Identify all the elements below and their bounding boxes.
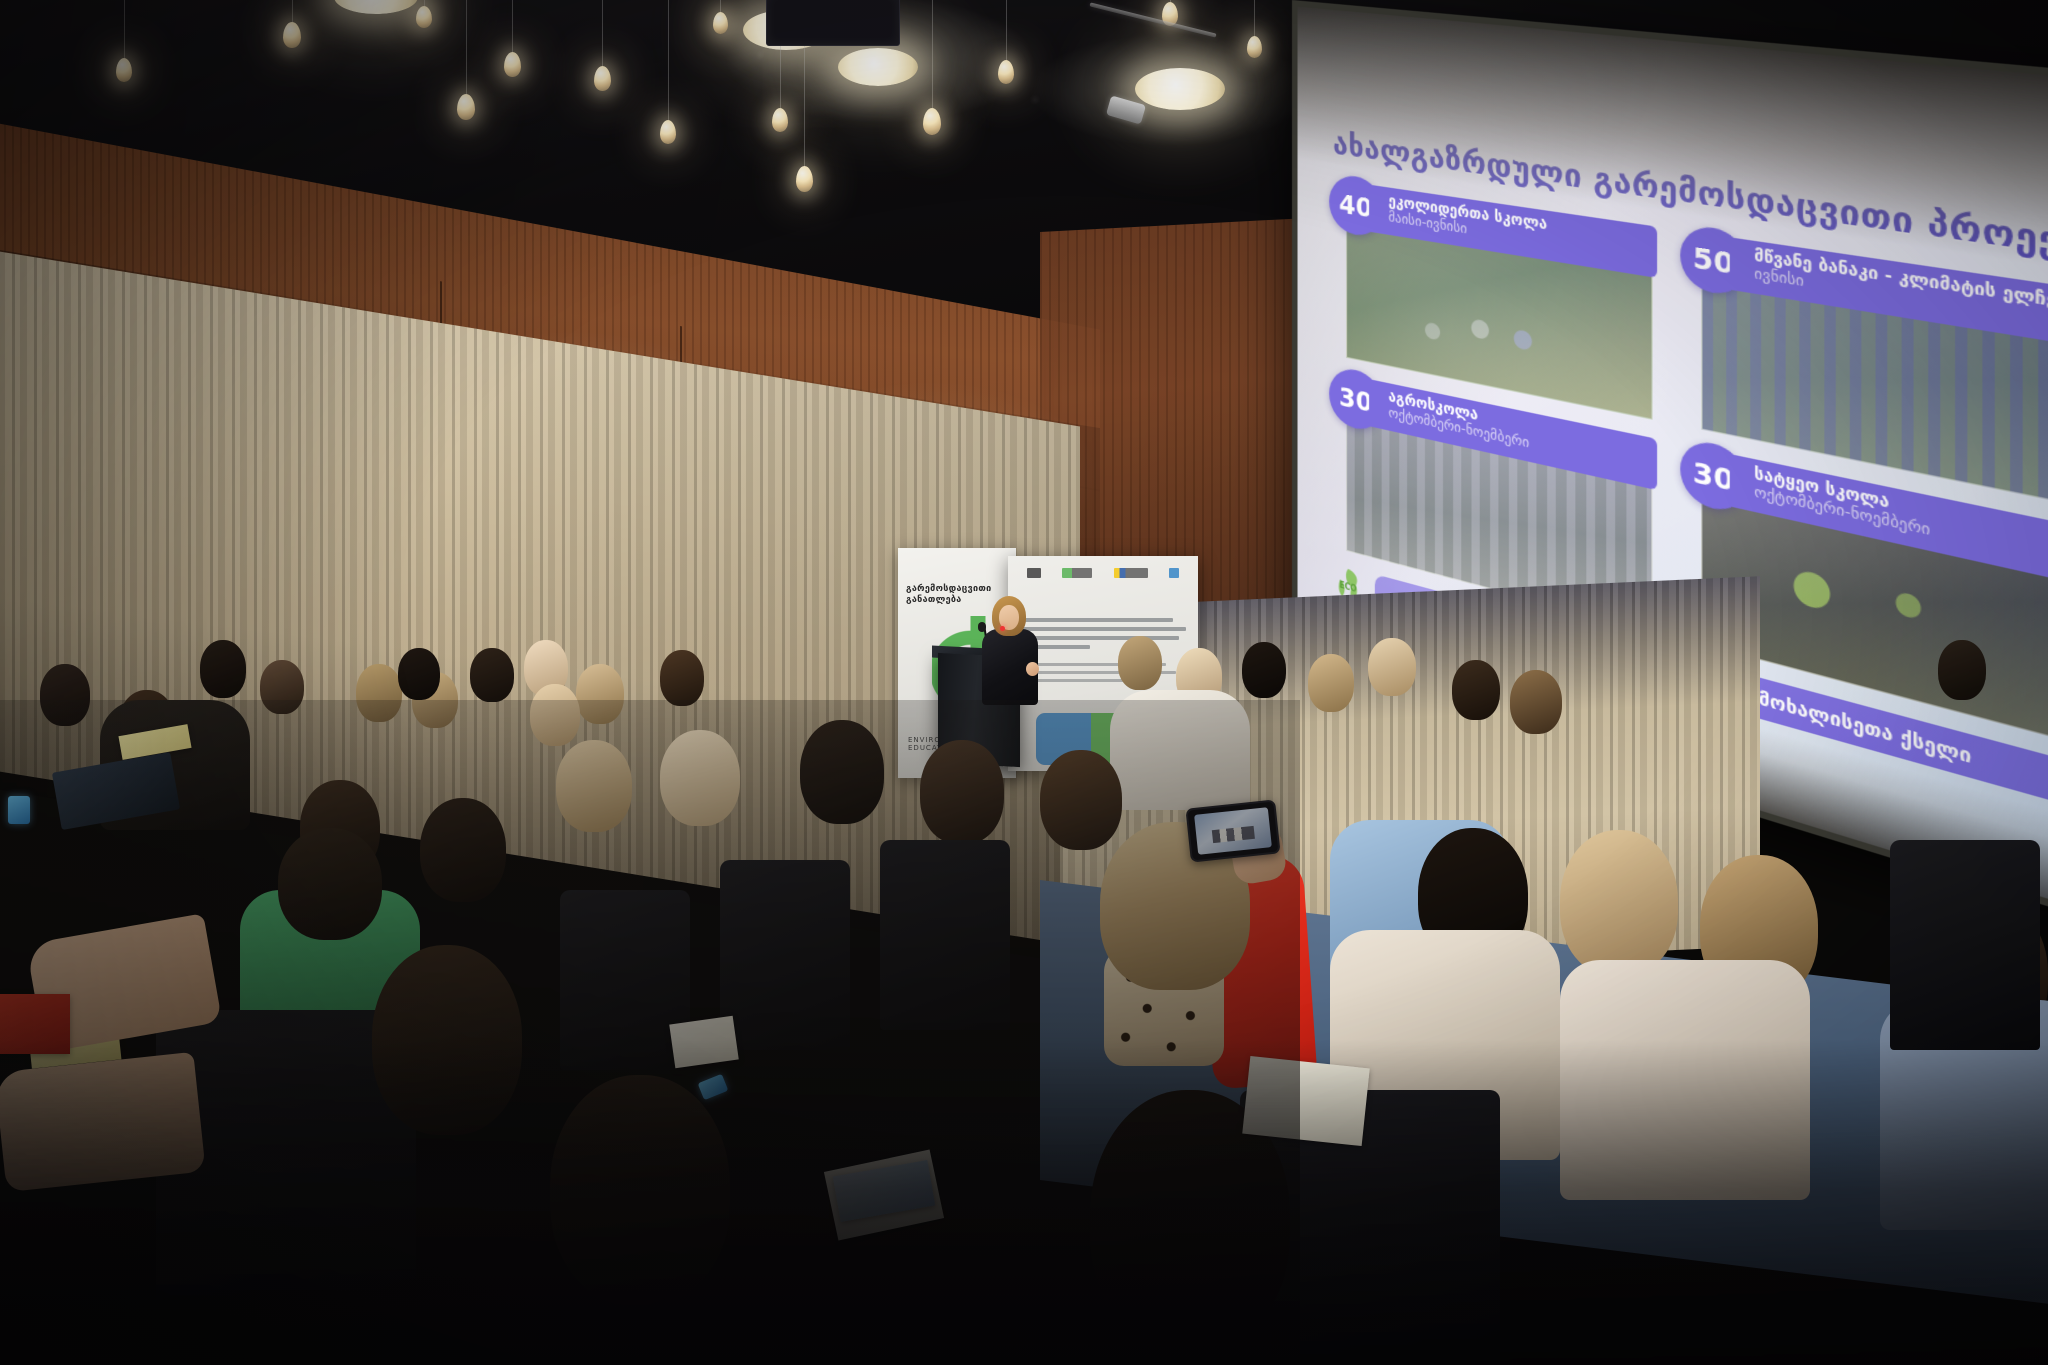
sponsor-logo <box>1027 568 1041 578</box>
audience-head <box>1242 642 1286 698</box>
conference-hall-photo: ახალგაზრდული გარემოსდაცვითი პროექტები 40… <box>0 0 2048 1365</box>
audience-head <box>470 648 514 702</box>
chair-back <box>1890 840 2040 1050</box>
audience-head <box>200 640 246 698</box>
ceiling-lighting-rig <box>766 0 900 46</box>
floor-shadow <box>0 700 1300 1365</box>
sponsor-logo <box>1062 568 1092 578</box>
audience-head <box>1452 660 1500 720</box>
audience-head <box>1368 638 1416 696</box>
audience-head <box>1560 830 1678 976</box>
sponsor-logo-row <box>1008 556 1198 584</box>
audience-head <box>1510 670 1562 734</box>
presenter-mic-indicator <box>1000 626 1005 631</box>
audience-head <box>660 650 704 706</box>
audience-shoulders <box>1560 960 1810 1200</box>
sponsor-logo <box>1114 568 1148 578</box>
presenter-hand <box>1026 662 1039 676</box>
audience-head <box>1308 654 1354 712</box>
audience-head <box>1118 636 1162 690</box>
presenter <box>976 596 1046 706</box>
sponsor-logo <box>1169 568 1179 578</box>
audience-head <box>1938 640 1986 700</box>
audience-head <box>398 648 440 700</box>
